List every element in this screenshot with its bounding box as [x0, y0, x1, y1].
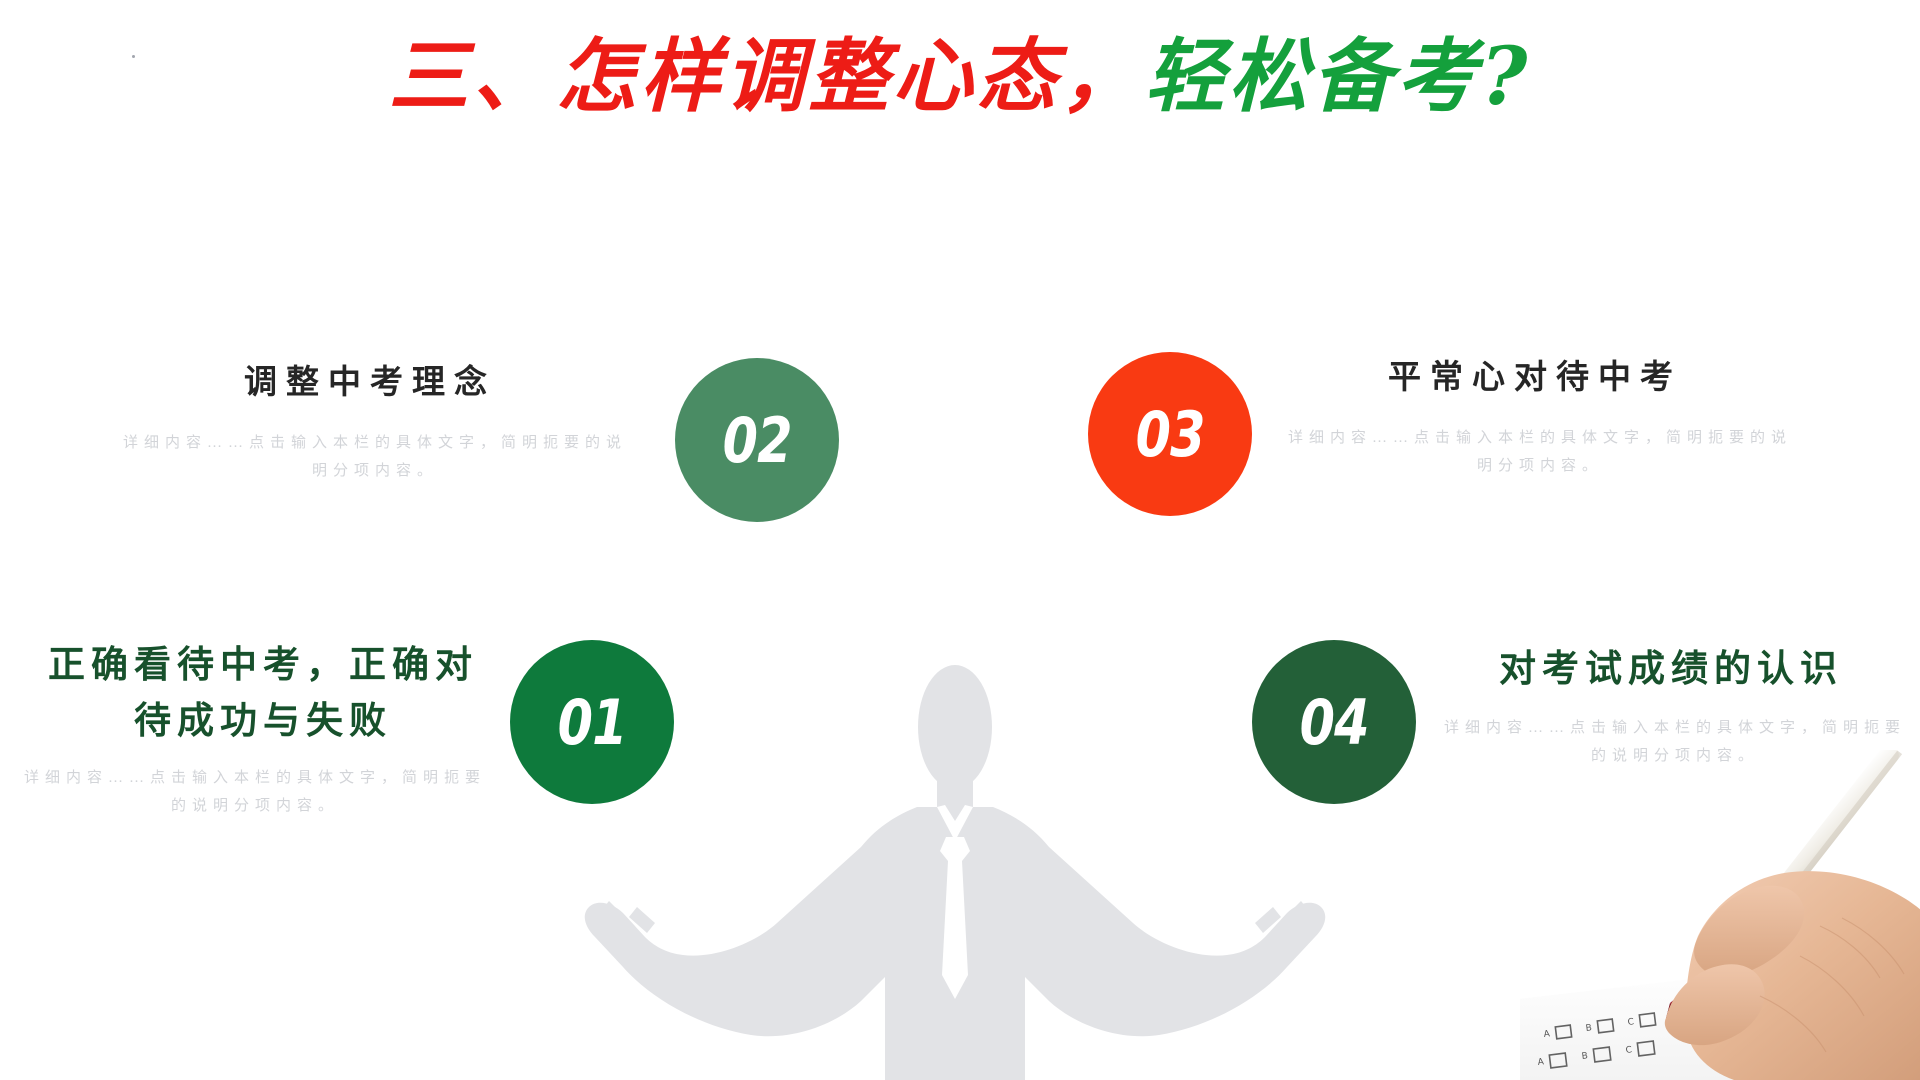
- number-circle-03-label: 03: [1135, 398, 1204, 471]
- number-circle-02-label: 02: [722, 404, 791, 477]
- slide-canvas: 三、怎样调整心态，轻松备考?: [0, 0, 1920, 1080]
- svg-text:B: B: [1585, 1023, 1592, 1034]
- item-block-04: 对考试成绩的认识 详细内容……点击输入本栏的具体文字，简明扼要的说明分项内容。: [1440, 640, 1910, 770]
- svg-text:B: B: [1581, 1051, 1588, 1062]
- item-block-03: 平常心对待中考 详细内容……点击输入本栏的具体文字，简明扼要的说明分项内容。: [1280, 350, 1800, 480]
- svg-text:C: C: [1627, 1017, 1634, 1028]
- number-circle-02[interactable]: 02: [675, 358, 839, 522]
- svg-text:C: C: [1625, 1045, 1632, 1056]
- item-heading-03: 平常心对待中考: [1280, 350, 1800, 398]
- item-body-03: 详细内容……点击输入本栏的具体文字，简明扼要的说明分项内容。: [1280, 424, 1800, 480]
- hand-pencil-answer-sheet-photo: A B C D A B C A B C A B C: [1520, 750, 1920, 1080]
- item-block-02: 调整中考理念 详细内容……点击输入本栏的具体文字，简明扼要的说明分项内容。: [120, 355, 630, 485]
- number-circle-01[interactable]: 01: [510, 640, 674, 804]
- item-heading-01: 正确看待中考，正确对待成功与失败: [20, 636, 490, 748]
- item-heading-04: 对考试成绩的认识: [1440, 640, 1910, 696]
- item-block-01: 正确看待中考，正确对待成功与失败 详细内容……点击输入本栏的具体文字，简明扼要的…: [20, 636, 490, 820]
- item-body-01: 详细内容……点击输入本栏的具体文字，简明扼要的说明分项内容。: [20, 764, 490, 820]
- number-circle-03[interactable]: 03: [1088, 352, 1252, 516]
- page-title-green-part: 轻松备考?: [1145, 29, 1532, 123]
- number-circle-01-label: 01: [557, 686, 626, 759]
- item-body-04: 详细内容……点击输入本栏的具体文字，简明扼要的说明分项内容。: [1440, 714, 1910, 770]
- page-title: 三、怎样调整心态，轻松备考?: [0, 28, 1920, 124]
- number-circle-04-label: 04: [1299, 686, 1368, 759]
- page-title-red-part: 三、怎样调整心态，: [389, 29, 1145, 123]
- item-heading-02: 调整中考理念: [120, 355, 630, 403]
- number-circle-04[interactable]: 04: [1252, 640, 1416, 804]
- item-body-02: 详细内容……点击输入本栏的具体文字，简明扼要的说明分项内容。: [120, 429, 630, 485]
